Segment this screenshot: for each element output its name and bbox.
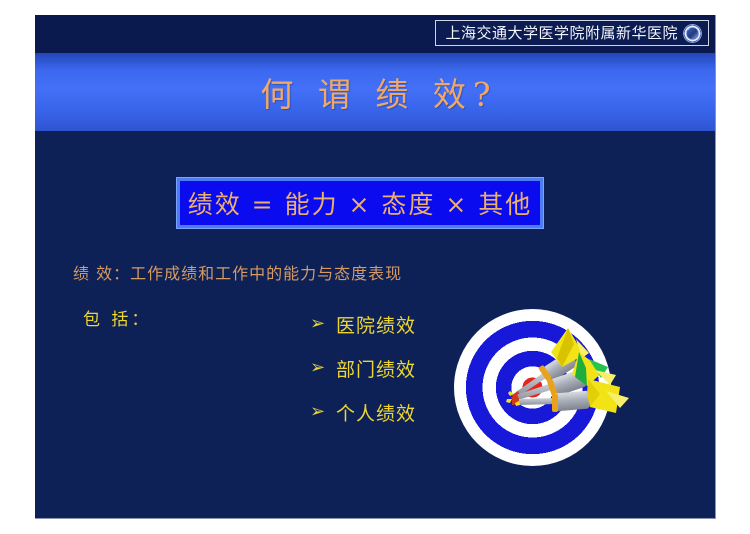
arrow-bullet-icon: ➢ (310, 359, 336, 377)
slide-title-band: 何 谓 绩 效? (35, 53, 716, 131)
slide-header-strip: 上海交通大学医学院附属新华医院 (35, 15, 716, 53)
formula-callout-box: 绩效 = 能力 × 态度 × 其他 (177, 178, 543, 228)
list-item-label: 部门绩效 (336, 355, 416, 382)
hospital-name-label: 上海交通大学医学院附属新华医院 (445, 26, 678, 41)
slide-body: 绩效 = 能力 × 态度 × 其他 绩 效：工作成绩和工作中的能力与态度表现 包… (35, 131, 716, 519)
includes-label: 包 括： (83, 305, 151, 330)
darts-icon (448, 295, 633, 445)
arrow-bullet-icon: ➢ (310, 315, 336, 333)
definition-text: 绩 效：工作成绩和工作中的能力与态度表现 (73, 260, 402, 284)
arrow-bullet-icon: ➢ (310, 403, 336, 421)
formula-text: 绩效 = 能力 × 态度 × 其他 (188, 185, 533, 221)
presentation-slide: 上海交通大学医学院附属新华医院 何 谓 绩 效? 绩效 = 能力 × 态度 × … (35, 15, 716, 519)
hospital-emblem-icon (683, 24, 702, 43)
list-item-label: 医院绩效 (336, 311, 416, 338)
list-item-label: 个人绩效 (336, 399, 416, 426)
dartboard-graphic (454, 309, 611, 466)
hospital-name-banner: 上海交通大学医学院附属新华医院 (435, 20, 709, 46)
page-title: 何 谓 绩 效? (253, 68, 497, 116)
